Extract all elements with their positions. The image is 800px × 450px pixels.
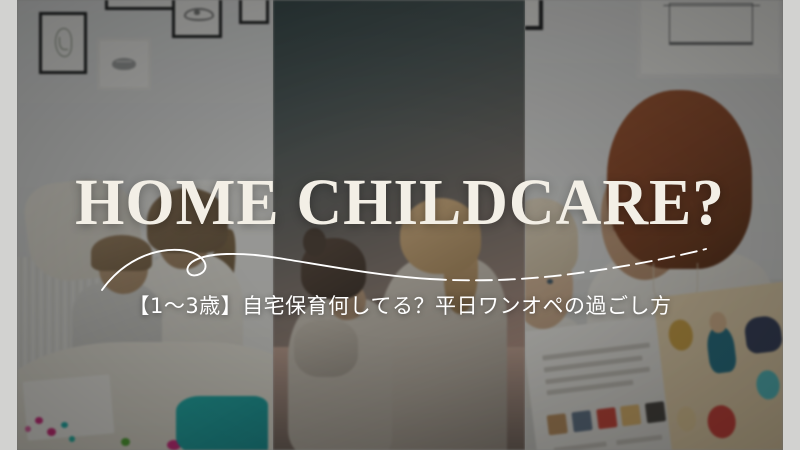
dark-overlay (17, 0, 783, 450)
slide-canvas: HOME CHILDCARE? 【1〜3歳】自宅保育何してる？平日ワンオペの過ご… (0, 0, 800, 450)
photo-overlay-wrap (17, 0, 783, 450)
vignette-overlay (17, 0, 783, 450)
